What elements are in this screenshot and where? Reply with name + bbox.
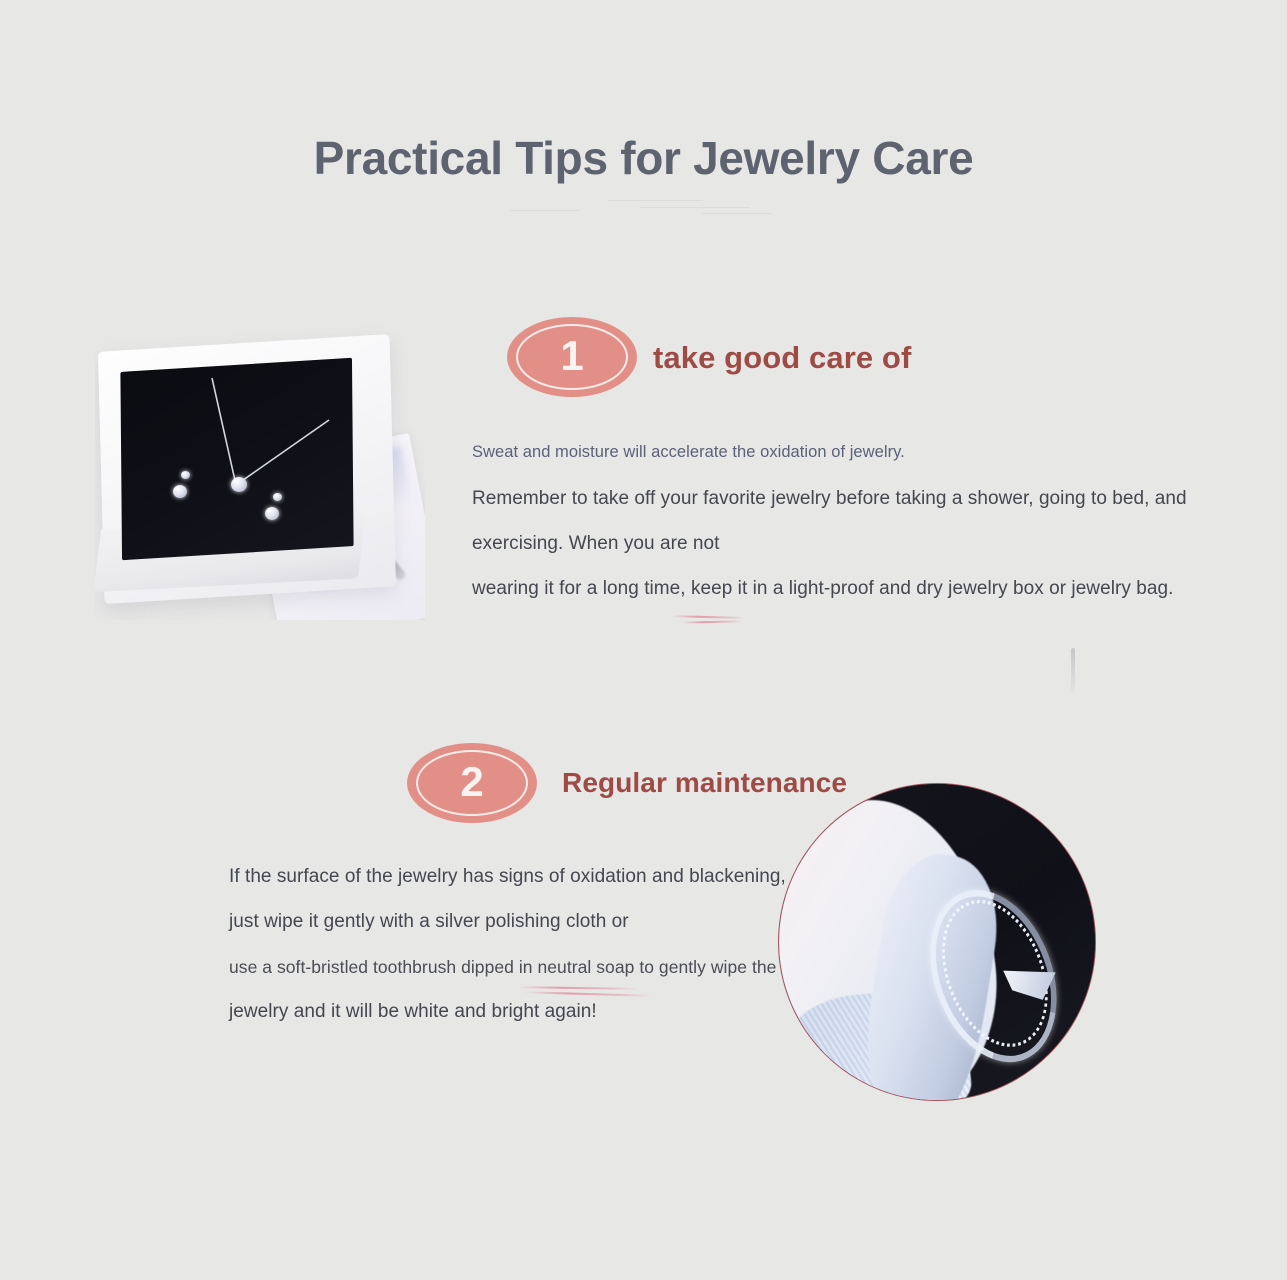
- page-title: Practical Tips for Jewelry Care: [0, 131, 1287, 185]
- infographic-page: Practical Tips for Jewelry Care 1 take g…: [0, 0, 1287, 1280]
- necklace-pendant: [231, 477, 247, 492]
- earring-stud-right: [265, 507, 279, 520]
- pink-brush-artifact-1: [672, 612, 762, 628]
- badge-number: 1: [507, 317, 637, 397]
- section-2-line-2: just wipe it gently with a silver polish…: [229, 911, 629, 933]
- earring-back-left: [181, 471, 190, 479]
- step-badge-1: 1: [507, 317, 637, 397]
- title-underline-decoration: [480, 196, 810, 222]
- badge-number: 2: [407, 743, 537, 823]
- box-velvet-insert: [120, 358, 353, 560]
- jewelry-gift-box-photo: [95, 325, 425, 620]
- section-1-line-3: exercising. When you are not: [472, 533, 719, 555]
- section-1-line-1: Sweat and moisture will accelerate the o…: [472, 443, 905, 462]
- section-2-line-1: If the surface of the jewelry has signs …: [229, 866, 786, 888]
- earring-stud-left: [173, 485, 187, 498]
- earring-back-right: [273, 493, 282, 501]
- section-1-line-4: wearing it for a long time, keep it in a…: [472, 578, 1173, 600]
- step-badge-2: 2: [407, 743, 537, 823]
- vertical-line-artifact: [1071, 648, 1075, 692]
- section-1-line-2: Remember to take off your favorite jewel…: [472, 488, 1187, 510]
- silver-ring-photo: [778, 783, 1096, 1101]
- section-1-heading: take good care of: [653, 340, 911, 376]
- section-2-line-4: jewelry and it will be white and bright …: [229, 1001, 597, 1023]
- section-2-line-3: use a soft-bristled toothbrush dipped in…: [229, 957, 776, 978]
